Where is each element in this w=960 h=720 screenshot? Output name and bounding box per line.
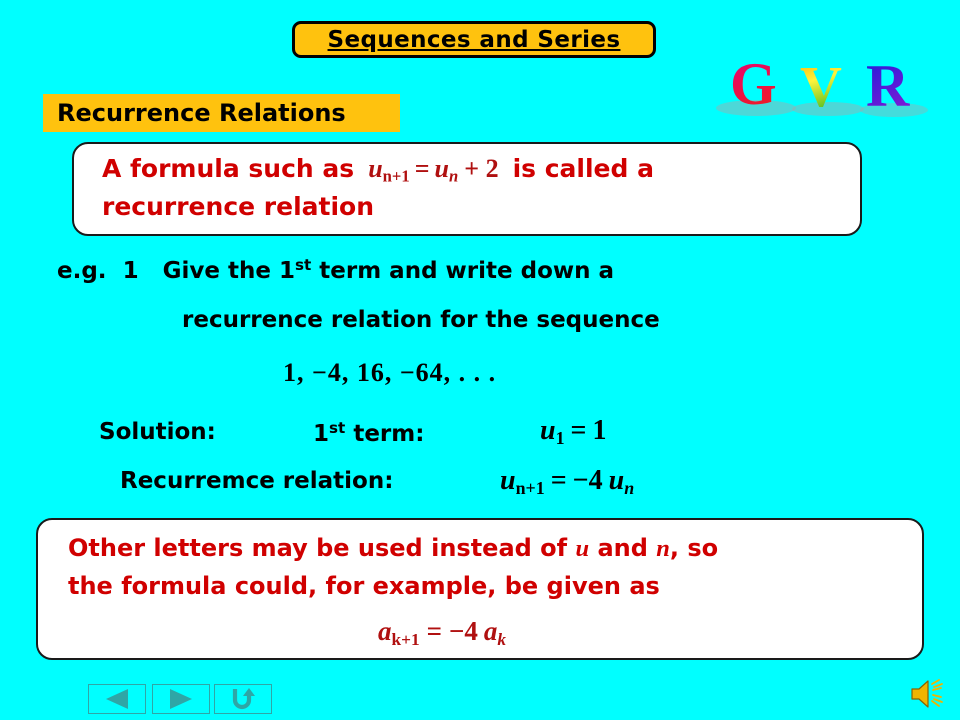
formula-relation: = xyxy=(410,154,435,183)
definition-formula: un+1=un+ 2 xyxy=(368,154,498,187)
other-letters-line-1: Other letters may be used instead of u a… xyxy=(68,534,718,563)
slide-canvas: Sequences and Series xyxy=(0,0,960,720)
other-letters-var-n: n xyxy=(656,535,670,562)
first-term-ordinal-suffix: st xyxy=(329,419,345,437)
example-label: e.g. xyxy=(57,258,107,284)
example-number: 1 xyxy=(123,258,139,284)
alt-formula-relation: = xyxy=(420,616,449,646)
example-text-pre: Give the 1 xyxy=(163,258,295,284)
alt-formula-rhs-base: a xyxy=(478,616,498,646)
other-letters-callout-box: Other letters may be used instead of u a… xyxy=(36,518,924,660)
page-title: Sequences and Series xyxy=(328,27,621,53)
u-turn-arrow-icon xyxy=(230,687,256,711)
recurrence-lhs-sub: n+1 xyxy=(516,478,545,498)
first-term-relation: = xyxy=(565,415,593,446)
first-term-label-post: term: xyxy=(353,421,424,447)
first-term-label-pre: 1 xyxy=(313,421,329,447)
recurrence-rhs-sub: n xyxy=(624,478,634,498)
recurrence-relation: = xyxy=(545,465,573,496)
nav-back-button[interactable] xyxy=(88,684,146,714)
triangle-left-icon xyxy=(104,688,130,710)
nav-forward-button[interactable] xyxy=(152,684,210,714)
other-letters-var-u: u xyxy=(575,535,589,562)
formula-tail: + 2 xyxy=(458,154,498,183)
first-term-equation: u1=1 xyxy=(540,415,607,449)
formula-lhs-sub: n+1 xyxy=(383,167,410,186)
example-ordinal-suffix: st xyxy=(295,256,311,274)
formula-rhs-base: u xyxy=(435,154,449,183)
alt-formula-coefficient: −4 xyxy=(449,616,478,646)
recurrence-equation: un+1=−4un xyxy=(500,465,634,499)
recurrence-rhs-base: u xyxy=(603,465,625,496)
example-line-1: e.g. 1 Give the 1st term and write down … xyxy=(57,256,614,284)
other-letters-text-b: and xyxy=(597,534,647,562)
alt-formula-lhs-sub: k+1 xyxy=(392,630,420,649)
definition-line-2: recurrence relation xyxy=(102,192,374,221)
formula-rhs-sub: n xyxy=(449,167,458,186)
other-letters-text-a: Other letters may be used instead of xyxy=(68,534,567,562)
definition-text-before: A formula such as xyxy=(102,154,354,183)
recurrence-lhs-base: u xyxy=(500,465,516,496)
alt-formula-lhs-base: a xyxy=(378,616,392,646)
alt-formula-rhs-sub: k xyxy=(497,630,506,649)
first-term-label: 1st term: xyxy=(313,419,424,447)
nav-return-button[interactable] xyxy=(214,684,272,714)
slide-title-banner: Sequences and Series xyxy=(292,21,656,58)
gvr-logo: G V R xyxy=(716,52,931,124)
definition-line-1: A formula such as un+1=un+ 2 is called a xyxy=(102,154,654,187)
other-letters-text-c: , so xyxy=(670,534,718,562)
section-subtitle-banner: Recurrence Relations xyxy=(43,94,400,132)
definition-callout-box: A formula such as un+1=un+ 2 is called a… xyxy=(72,142,862,236)
example-text-post: term and write down a xyxy=(319,258,614,284)
logo-letter-g: G xyxy=(730,52,777,117)
first-term-sub: 1 xyxy=(556,428,565,448)
formula-lhs-base: u xyxy=(368,154,382,183)
section-subtitle: Recurrence Relations xyxy=(57,99,346,127)
recurrence-coefficient: −4 xyxy=(573,465,603,496)
example-line-2: recurrence relation for the sequence xyxy=(182,307,660,333)
speaker-icon[interactable] xyxy=(908,676,952,712)
first-term-value: 1 xyxy=(593,415,607,446)
other-letters-formula: ak+1=−4ak xyxy=(378,616,506,650)
triangle-right-icon xyxy=(168,688,194,710)
solution-label: Solution: xyxy=(99,419,216,445)
other-letters-line-2: the formula could, for example, be given… xyxy=(68,572,660,600)
example-sequence: 1, −4, 16, −64, . . . xyxy=(283,358,496,388)
definition-text-after: is called a xyxy=(513,154,654,183)
logo-letter-r: R xyxy=(866,53,910,119)
logo-letter-v: V xyxy=(800,54,842,119)
recurrence-label: Recurremce relation: xyxy=(120,468,393,494)
first-term-base: u xyxy=(540,415,556,446)
